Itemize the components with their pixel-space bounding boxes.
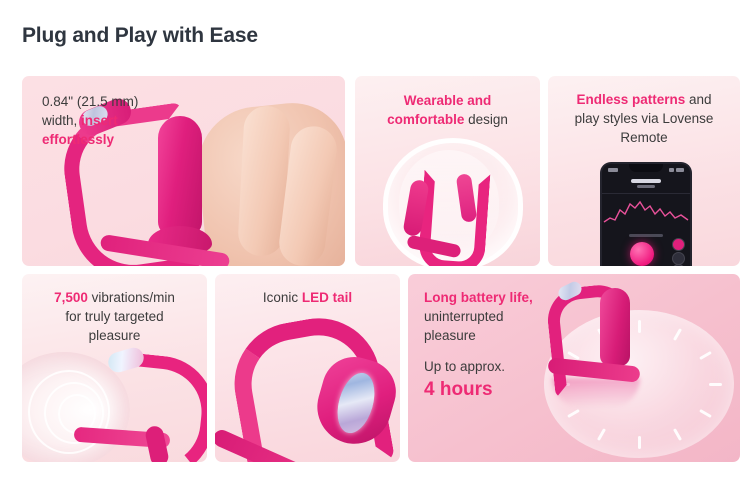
card-text-segment: for truly targeted	[65, 309, 163, 324]
card-text-segment: comfortable	[387, 112, 464, 127]
card-text-vibrations: 7,500 vibrations/minfor truly targetedpl…	[30, 288, 199, 345]
card-text-battery: Long battery life,uninterruptedpleasureU…	[424, 288, 604, 404]
app-side-button-record[interactable]	[672, 238, 685, 251]
clock-tick	[597, 428, 606, 441]
card-text-segment: Up to approx.	[424, 359, 505, 374]
card-text-segment: Long battery life,	[424, 290, 533, 305]
card-text-line: comfortable design	[365, 110, 530, 129]
card-text-segment: Remote	[620, 130, 667, 145]
clock-tick	[567, 409, 580, 418]
feature-card-size: 0.84" (21.5 mm)width, inserteffortlessly	[22, 76, 345, 266]
card-text-line: 7,500 vibrations/min	[30, 288, 199, 307]
card-text-segment: design	[464, 112, 508, 127]
card-text-segment: uninterrupted	[424, 309, 504, 324]
card-text-segment: Iconic	[263, 290, 302, 305]
card-text-segment: width,	[42, 113, 81, 128]
feature-card-wearable: Wearable andcomfortable design	[355, 76, 540, 266]
card-text-line: 0.84" (21.5 mm)	[42, 92, 212, 111]
feature-card-vibrations: 7,500 vibrations/minfor truly targetedpl…	[22, 274, 207, 462]
card-text-line: pleasure	[30, 326, 199, 345]
card-text-gap	[424, 345, 604, 357]
feature-card-battery: Long battery life,uninterruptedpleasureU…	[408, 274, 740, 462]
feature-card-led-tail: Iconic LED tail	[215, 274, 400, 462]
card-text-line: Up to approx.	[424, 357, 604, 376]
card-text-led-tail: Iconic LED tail	[223, 288, 392, 307]
phone-mockup	[600, 162, 692, 266]
card-text-segment: 0.84" (21.5 mm)	[42, 94, 138, 109]
card-text-wearable: Wearable andcomfortable design	[365, 91, 530, 129]
card-text-segment: vibrations/min	[88, 290, 175, 305]
card-text-line: Iconic LED tail	[223, 288, 392, 307]
clock-tick	[673, 428, 682, 441]
card-text-line: 4 hours	[424, 377, 604, 404]
card-text-line: Wearable and	[365, 91, 530, 110]
card-text-segment: LED tail	[302, 290, 352, 305]
card-text-segment: effortlessly	[42, 132, 114, 147]
card-text-segment: pleasure	[424, 328, 476, 343]
phone-status-bar	[608, 166, 684, 173]
app-label-pill	[629, 234, 663, 237]
card-text-line: width, insert	[42, 111, 212, 130]
clock-tick	[638, 436, 641, 449]
app-side-button-more[interactable]	[672, 264, 685, 266]
clock-tick	[709, 383, 722, 386]
card-text-segment: 4 hours	[424, 379, 493, 400]
app-control-button[interactable]	[630, 242, 654, 266]
card-text-line: pleasure	[424, 326, 604, 345]
page-title: Plug and Play with Ease	[22, 24, 258, 48]
card-text-size: 0.84" (21.5 mm)width, inserteffortlessly	[42, 92, 212, 149]
card-text-line: effortlessly	[42, 130, 212, 149]
clock-tick	[699, 351, 712, 360]
feature-card-patterns: Endless patterns andplay styles via Love…	[548, 76, 740, 266]
card-text-segment: insert	[81, 113, 118, 128]
product-feature-page: Plug and Play with Ease 0.84" (21.5 mm)w…	[0, 0, 750, 492]
app-subtitle-pill	[637, 185, 655, 188]
clock-tick	[699, 409, 712, 418]
waveform-graph	[602, 196, 690, 230]
card-text-segment: pleasure	[89, 328, 141, 343]
card-text-segment: Wearable and	[404, 93, 492, 108]
card-text-patterns: Endless patterns andplay styles via Love…	[556, 90, 732, 147]
card-text-segment: Endless patterns	[576, 92, 685, 107]
card-text-line: for truly targeted	[30, 307, 199, 326]
card-text-segment: play styles via Lovense	[575, 111, 714, 126]
clock-tick	[673, 328, 682, 341]
card-text-line: Remote	[556, 128, 732, 147]
card-text-line: uninterrupted	[424, 307, 604, 326]
card-text-line: Endless patterns and	[556, 90, 732, 109]
card-text-segment: 7,500	[54, 290, 88, 305]
card-text-line: play styles via Lovense	[556, 109, 732, 128]
card-text-line: Long battery life,	[424, 288, 604, 307]
app-title-pill	[631, 179, 661, 183]
app-header	[602, 177, 690, 194]
card-text-segment: and	[685, 92, 711, 107]
product-plug	[600, 288, 630, 366]
